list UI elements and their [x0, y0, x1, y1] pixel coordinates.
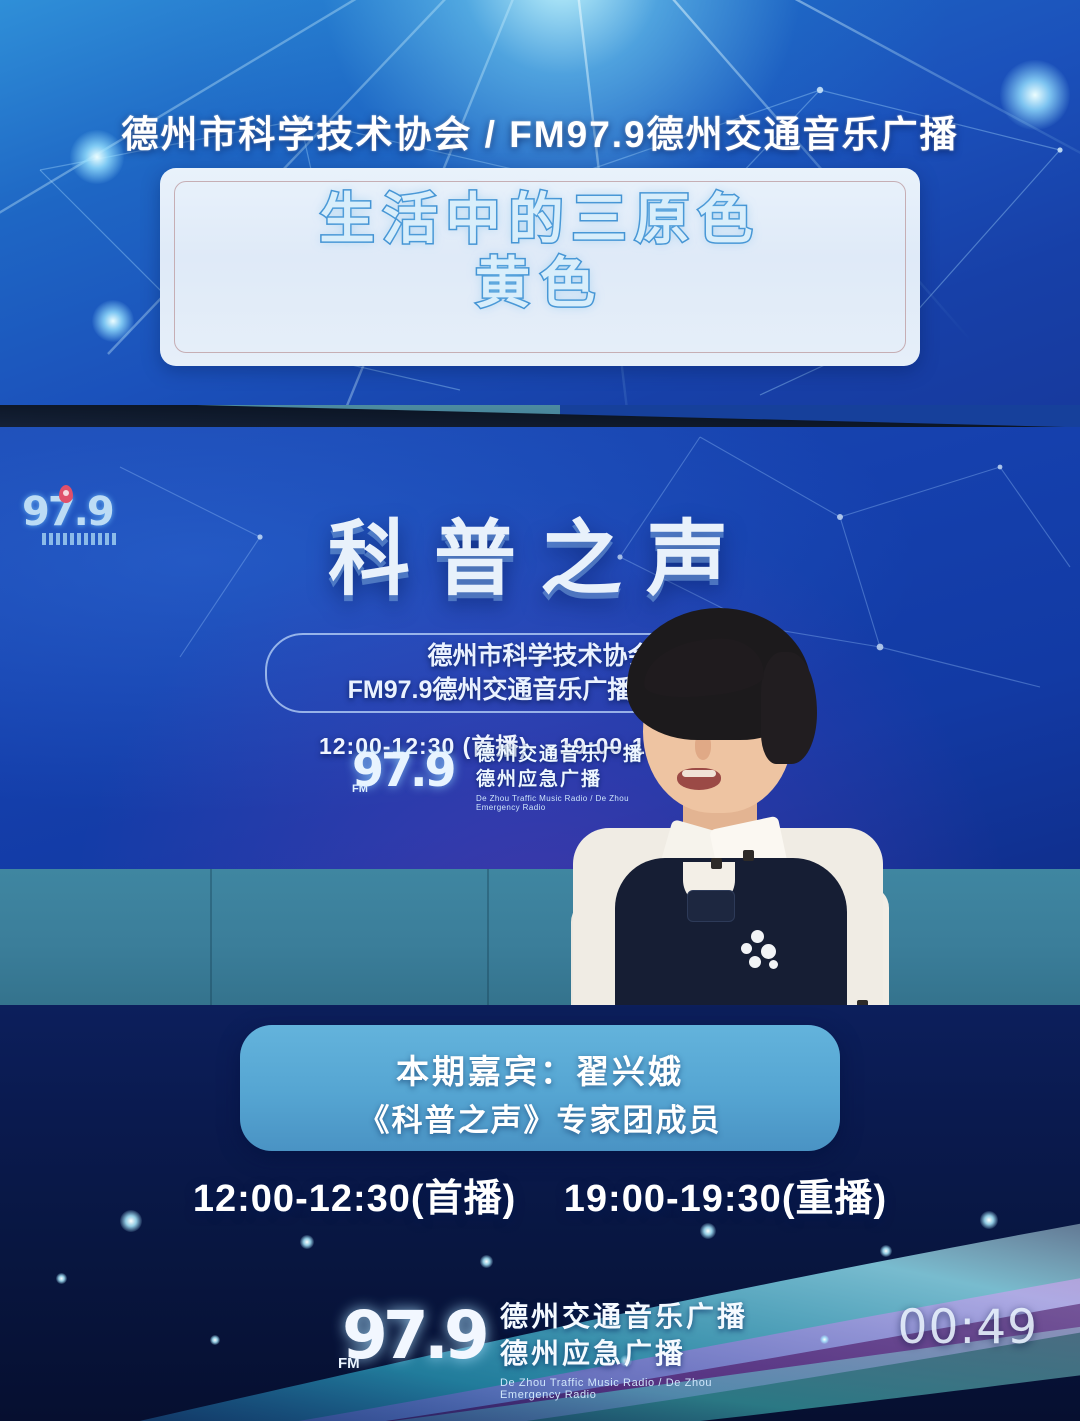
- lower-third-panel: 本期嘉宾：翟兴娥 《科普之声》专家团成员 12:00-12:30(首播) 19:…: [0, 1005, 1080, 1421]
- presenter-floral-brooch: [741, 930, 785, 974]
- led-subtitle-group: 德州市科学技术协会 FM97.9德州交通音乐广播联合主办: [0, 639, 1080, 707]
- studio-wall-panel: [0, 869, 1080, 1005]
- episode-title-card: 生活中的三原色 黄色: [160, 168, 920, 366]
- sparkle: [56, 1273, 67, 1284]
- presenter-figure: [565, 600, 895, 1005]
- shirt-button: [711, 858, 722, 869]
- episode-title-line-1: 生活中的三原色: [160, 188, 920, 252]
- playback-timer: 00:49: [898, 1300, 1038, 1355]
- shirt-button: [743, 850, 754, 861]
- sparkle: [700, 1223, 716, 1239]
- led-program-title: 科普之声: [0, 492, 1080, 611]
- sparkle: [210, 1335, 220, 1345]
- air-time-repeat: 19:00-19:30(重播): [564, 1178, 887, 1220]
- episode-title-line-2: 黄色: [160, 252, 920, 316]
- led-backdrop-screen: 97.9 科普之声 德州市科学技术协会 FM97.9德州交通音乐广播联合主办 1…: [0, 427, 1080, 869]
- broadcast-screenshot: 德州市科学技术协会 / FM97.9德州交通音乐广播 生活中的三原色 黄色: [0, 0, 1080, 1421]
- air-time-first: 12:00-12:30(首播): [193, 1178, 516, 1220]
- lapel-microphone-icon: [687, 890, 735, 922]
- footer-brand-cn-line-2: 德州应急广播: [500, 1336, 750, 1373]
- sparkle: [480, 1255, 493, 1268]
- sparkle: [300, 1235, 314, 1249]
- led-brand-fm-label: FM: [352, 783, 368, 795]
- footer-brand-en-line: De Zhou Traffic Music Radio / De Zhou Em…: [500, 1377, 750, 1401]
- footer-station-logo: 97.9 FM 德州交通音乐广播 德州应急广播 De Zhou Traffic …: [330, 1293, 750, 1395]
- footer-brand-cn-line-1: 德州交通音乐广播: [500, 1299, 750, 1336]
- episode-title-text-group: 生活中的三原色 黄色: [160, 188, 920, 316]
- led-brand-number: 97.9: [352, 743, 470, 805]
- sparkle: [880, 1245, 892, 1257]
- presenter-mouth: [677, 768, 721, 790]
- footer-brand-fm-label: FM: [338, 1355, 360, 1372]
- banner-org-line: 德州市科学技术协会 / FM97.9德州交通音乐广播: [0, 104, 1080, 158]
- top-banner: 德州市科学技术协会 / FM97.9德州交通音乐广播 生活中的三原色 黄色: [0, 0, 1080, 405]
- led-subtitle-line-1: 德州市科学技术协会: [0, 639, 1080, 673]
- led-subtitle-line-2: FM97.9德州交通音乐广播联合主办: [0, 673, 1080, 707]
- footer-brand-number: 97.9: [342, 1297, 485, 1374]
- video-frame: 97.9 科普之声 德州市科学技术协会 FM97.9德州交通音乐广播联合主办 1…: [0, 405, 1080, 1005]
- guest-info-banner: 本期嘉宾：翟兴娥 《科普之声》专家团成员: [240, 1025, 840, 1151]
- sparkle: [820, 1335, 829, 1344]
- guest-name-line: 本期嘉宾：翟兴娥: [240, 1045, 840, 1093]
- guest-role-line: 《科普之声》专家团成员: [240, 1095, 840, 1140]
- broadcast-times: 12:00-12:30(首播) 19:00-19:30(重播): [0, 1167, 1080, 1222]
- footer-brand-text-group: 德州交通音乐广播 德州应急广播 De Zhou Traffic Music Ra…: [500, 1299, 750, 1401]
- presenter-hair-side: [761, 652, 817, 764]
